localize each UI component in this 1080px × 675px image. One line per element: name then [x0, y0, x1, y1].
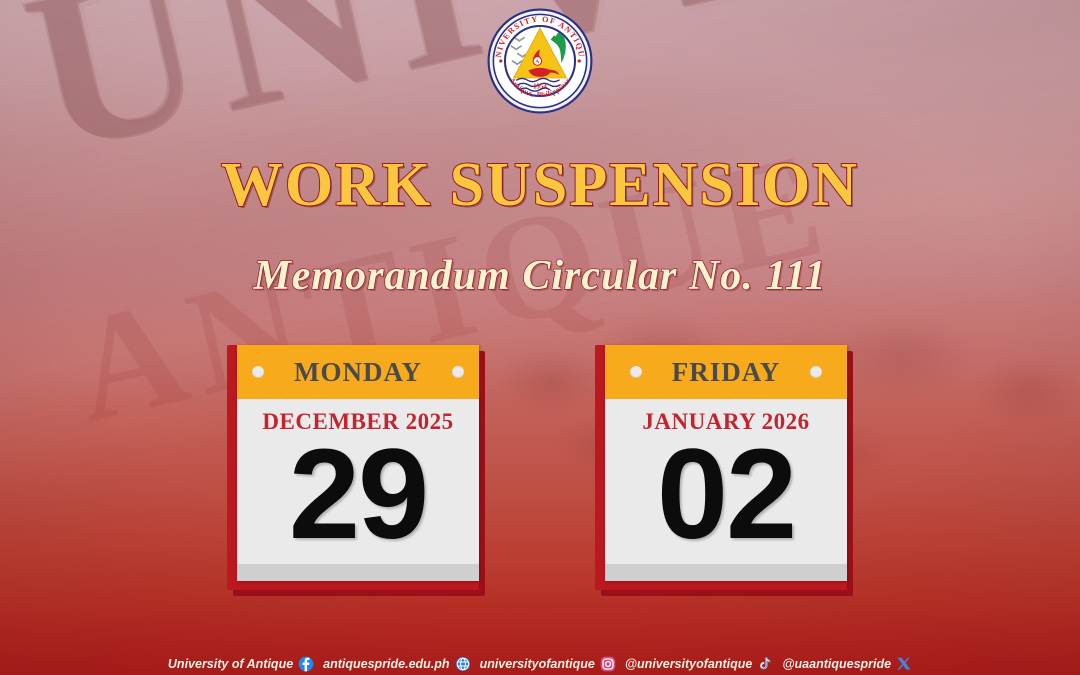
- calendar-cards-container: MONDAY DECEMBER 2025 29 FRIDAY: [0, 345, 1080, 596]
- tiktok-icon[interactable]: [757, 656, 773, 672]
- university-seal-logo: A 1954 UNIVERSITY OF ANTIQUE Antique, Ph…: [487, 8, 593, 114]
- footer-item-tiktok[interactable]: @universityofantique: [625, 656, 773, 672]
- facebook-icon[interactable]: [298, 656, 314, 672]
- footer-item-x-twitter[interactable]: @uaantiquespride: [782, 656, 912, 672]
- svg-text:A: A: [535, 59, 539, 65]
- work-suspension-poster: UNIVERSITY ANTIQUE: [0, 0, 1080, 675]
- card-sheet: JANUARY 2026 02: [605, 399, 847, 564]
- footer-label-instagram: universityofantique: [480, 657, 595, 671]
- calendar-card-second: FRIDAY JANUARY 2026 02: [595, 345, 853, 596]
- footer-label-x-twitter: @uaantiquespride: [782, 657, 891, 671]
- page-title: WORK SUSPENSION: [0, 150, 1080, 221]
- calendar-card-first: MONDAY DECEMBER 2025 29: [227, 345, 485, 596]
- footer-label-tiktok: @universityofantique: [625, 657, 752, 671]
- university-seal-icon: A 1954 UNIVERSITY OF ANTIQUE Antique, Ph…: [487, 8, 593, 114]
- card-header: FRIDAY: [605, 345, 847, 399]
- card-footer-strip: [605, 564, 847, 581]
- calendar-ring-dot-left-icon: [630, 366, 642, 378]
- calendar-ring-dot-right-icon: [810, 366, 822, 378]
- card-day-number: 02: [657, 437, 795, 552]
- svg-text:1954: 1954: [533, 84, 547, 91]
- memorandum-subtitle: Memorandum Circular No. 111: [0, 252, 1080, 300]
- footer-item-instagram[interactable]: universityofantique: [480, 656, 616, 672]
- calendar-ring-dot-left-icon: [252, 366, 264, 378]
- footer-item-facebook[interactable]: University of Antique: [168, 656, 314, 672]
- card-day-name: FRIDAY: [672, 357, 781, 388]
- social-media-footer: University of Antique antiquespride.edu.…: [0, 653, 1080, 675]
- card-day-name: MONDAY: [294, 357, 422, 388]
- card-body: MONDAY DECEMBER 2025 29: [237, 345, 479, 581]
- instagram-icon[interactable]: [600, 656, 616, 672]
- card-footer-strip: [237, 564, 479, 581]
- calendar-ring-dot-right-icon: [452, 366, 464, 378]
- x-twitter-icon[interactable]: [896, 656, 912, 672]
- card-header: MONDAY: [237, 345, 479, 399]
- footer-label-facebook: University of Antique: [168, 657, 293, 671]
- footer-label-website: antiquespride.edu.ph: [323, 657, 449, 671]
- footer-item-website[interactable]: antiquespride.edu.ph: [323, 656, 470, 672]
- card-body: FRIDAY JANUARY 2026 02: [605, 345, 847, 581]
- card-day-number: 29: [289, 437, 427, 552]
- card-sheet: DECEMBER 2025 29: [237, 399, 479, 564]
- website-globe-icon[interactable]: [455, 656, 471, 672]
